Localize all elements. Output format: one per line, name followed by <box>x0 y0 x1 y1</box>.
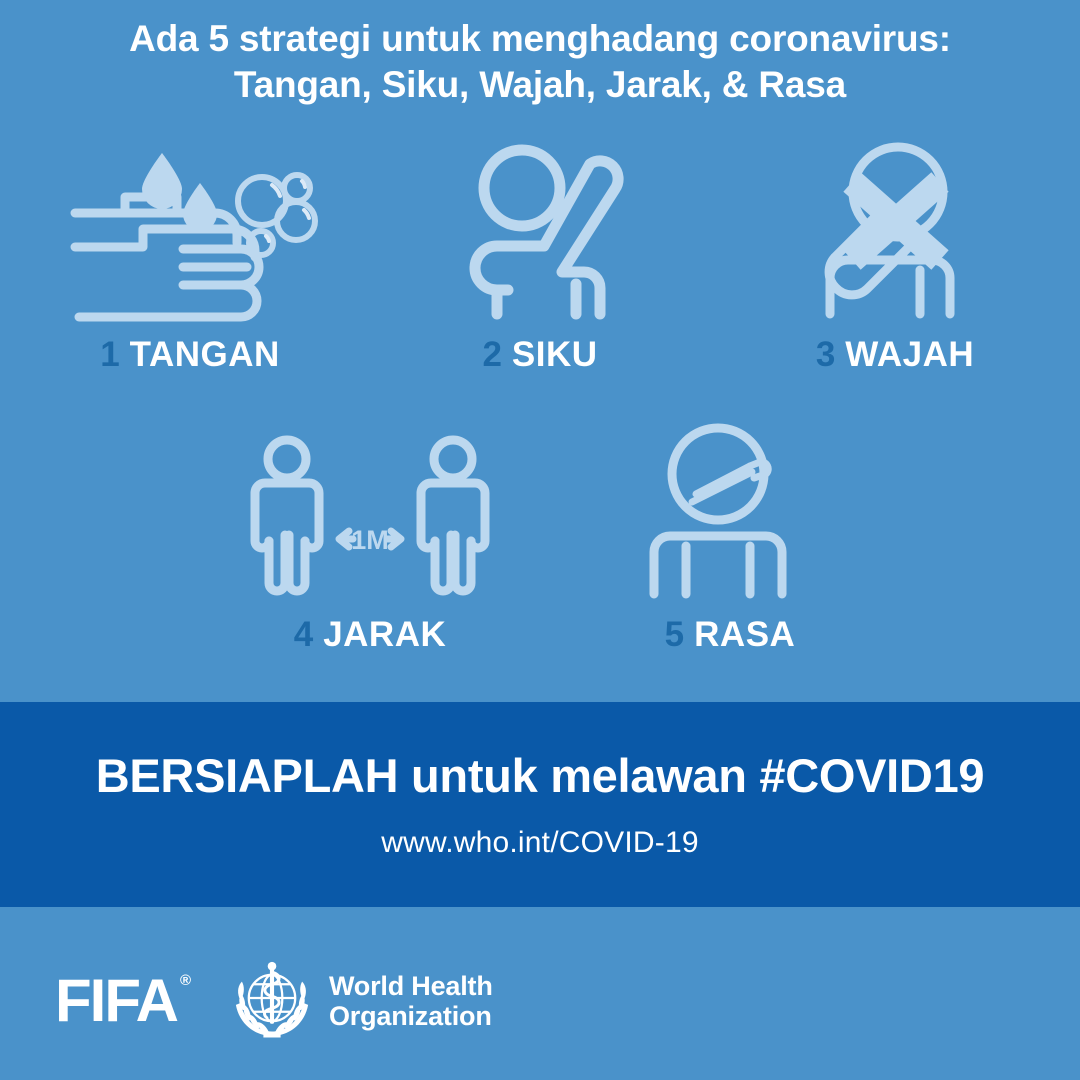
registered-trademark-icon: ® <box>180 973 191 988</box>
do-not-touch-face-icon <box>730 130 1060 320</box>
who-wordmark-line-1: World Health <box>329 971 493 1001</box>
footer: FIFA® <box>0 907 1080 1080</box>
distance-value: 1M <box>351 525 389 555</box>
strategy-caption-jarak: 4JARAK <box>200 616 540 654</box>
physical-distance-icon: 1M <box>200 410 540 600</box>
strategy-item-rasa: 5RASA <box>580 410 880 654</box>
strategy-caption-wajah: 3WAJAH <box>730 336 1060 374</box>
strategy-item-siku: 2SIKU <box>390 130 690 374</box>
strategy-number: 4 <box>294 615 313 654</box>
fifa-logo: FIFA® <box>55 971 177 1031</box>
hand-washing-icon <box>20 130 360 320</box>
strategy-number: 5 <box>665 615 684 654</box>
strategy-label: JARAK <box>323 615 446 654</box>
strategy-grid: 1TANGAN 2SIKU <box>0 130 1080 690</box>
strategy-caption-tangan: 1TANGAN <box>20 336 360 374</box>
call-to-action-banner: BERSIAPLAH untuk melawan #COVID19 www.wh… <box>0 702 1080 907</box>
strategy-number: 2 <box>482 335 501 374</box>
cough-into-elbow-icon <box>390 130 690 320</box>
logo-row: FIFA® <box>55 955 493 1046</box>
who-wordmark-line-2: Organization <box>329 1001 492 1031</box>
strategy-label: SIKU <box>512 335 598 374</box>
poster: Ada 5 strategi untuk menghadang coronavi… <box>0 0 1080 1080</box>
strategy-item-wajah: 3WAJAH <box>730 130 1060 374</box>
who-wordmark: World Health Organization <box>329 971 493 1031</box>
strategy-number: 3 <box>816 335 835 374</box>
strategy-label: TANGAN <box>130 335 280 374</box>
strategy-label: WAJAH <box>845 335 974 374</box>
page-title: Ada 5 strategi untuk menghadang coronavi… <box>0 16 1080 108</box>
who-logo: World Health Organization <box>229 955 493 1046</box>
title-line-2: Tangan, Siku, Wajah, Jarak, & Rasa <box>0 62 1080 108</box>
who-emblem-icon <box>229 955 315 1046</box>
strategy-caption-rasa: 5RASA <box>580 616 880 654</box>
fifa-wordmark: FIFA <box>55 967 177 1034</box>
strategy-label: RASA <box>694 615 795 654</box>
strategy-number: 1 <box>100 335 119 374</box>
banner-headline: BERSIAPLAH untuk melawan #COVID19 <box>96 749 985 803</box>
strategy-item-tangan: 1TANGAN <box>20 130 360 374</box>
strategy-caption-siku: 2SIKU <box>390 336 690 374</box>
title-line-1: Ada 5 strategi untuk menghadang coronavi… <box>0 16 1080 62</box>
strategy-item-jarak: 1M 4JARAK <box>200 410 540 654</box>
banner-url[interactable]: www.who.int/COVID-19 <box>381 825 698 861</box>
feeling-unwell-thermometer-icon <box>580 410 880 600</box>
